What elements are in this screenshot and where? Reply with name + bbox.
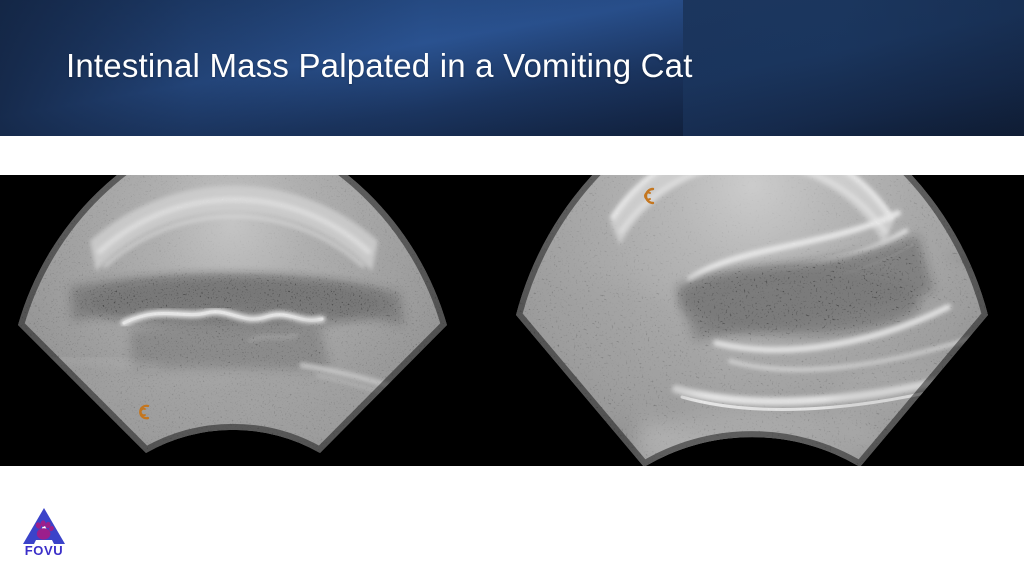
ultrasound-image-strip: [0, 175, 1024, 466]
ultrasound-figure: [0, 175, 1024, 466]
header-content-divider: [0, 136, 1024, 175]
slide-footer: FOVU: [0, 466, 1024, 576]
slide: Intestinal Mass Palpated in a Vomiting C…: [0, 0, 1024, 576]
fovu-logo-label: FOVU: [16, 543, 72, 558]
page-title: Intestinal Mass Palpated in a Vomiting C…: [66, 44, 693, 88]
fovu-logo-icon: [16, 506, 72, 546]
fovu-logo: FOVU: [16, 506, 72, 564]
banner-panel-right: [683, 0, 1024, 136]
title-banner: Intestinal Mass Palpated in a Vomiting C…: [0, 0, 1024, 136]
